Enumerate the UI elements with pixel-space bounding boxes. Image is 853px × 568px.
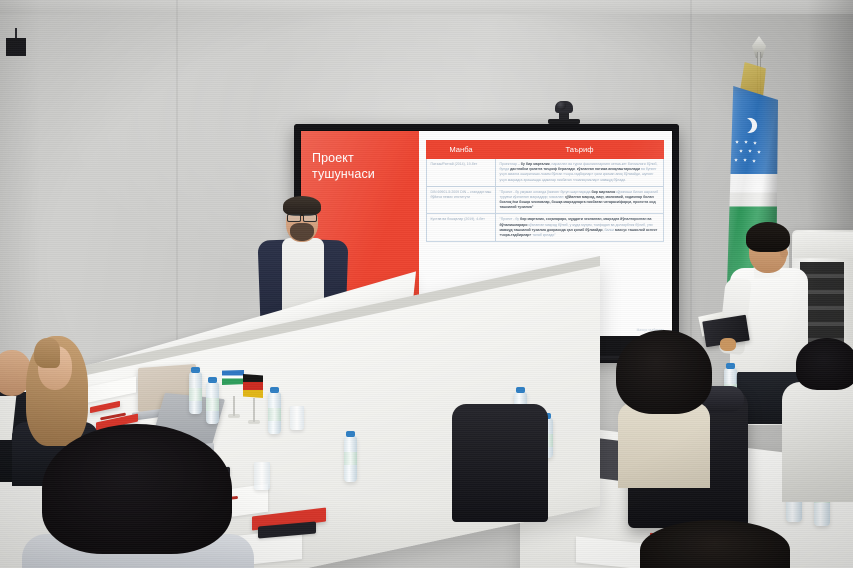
- presenter-hair: [283, 196, 321, 216]
- glasses-icon: [287, 214, 317, 220]
- attendee-front-right: [640, 520, 853, 568]
- water-bottle[interactable]: [189, 372, 202, 414]
- presenter-beard: [290, 223, 314, 241]
- presentation-photo-scene: Проекттушунчаси Deutsche Sparkassenstift…: [0, 0, 853, 568]
- bottle-cap: [208, 377, 217, 383]
- water-bottle[interactable]: [206, 382, 219, 424]
- bottle-cap: [726, 363, 735, 369]
- attendee-torso: [782, 382, 853, 502]
- office-chair[interactable]: [452, 404, 548, 522]
- bottle-cap: [346, 431, 355, 437]
- participant-hand: [720, 338, 736, 351]
- attendee-woman-center: [616, 330, 712, 460]
- bottle-label: [189, 388, 202, 401]
- camera-lens-icon: [557, 101, 566, 110]
- attendee-hair: [796, 338, 853, 390]
- bottle-label: [268, 408, 281, 421]
- desk-flag-uzbekistan: [222, 370, 244, 385]
- bottle-label: [206, 398, 219, 411]
- attendee-right: [786, 338, 853, 498]
- attendee-hair: [640, 520, 790, 568]
- drinking-glass[interactable]: [290, 406, 304, 430]
- water-bottle[interactable]: [344, 436, 357, 482]
- water-bottle[interactable]: [268, 392, 281, 434]
- attendee-hair-front: [34, 338, 60, 368]
- attendee-hair: [42, 424, 232, 554]
- camera-neck: [559, 112, 569, 120]
- bottle-cap: [191, 367, 200, 373]
- desk-flag-stand: [233, 396, 235, 416]
- attendee-torso: [618, 402, 710, 488]
- desk-flag-stand: [253, 398, 255, 422]
- drinking-glass[interactable]: [254, 462, 270, 490]
- conference-camera: [548, 92, 580, 124]
- participant-hair: [746, 222, 790, 252]
- camera-mount-block: [6, 38, 26, 56]
- bottle-cap: [516, 387, 525, 393]
- attendee-front-left: [22, 424, 252, 568]
- desk-flag-germany: [243, 374, 263, 398]
- attendee-hair: [616, 330, 712, 414]
- bottle-cap: [270, 387, 279, 393]
- bottle-label: [344, 452, 357, 465]
- ceiling-strip: [0, 0, 853, 14]
